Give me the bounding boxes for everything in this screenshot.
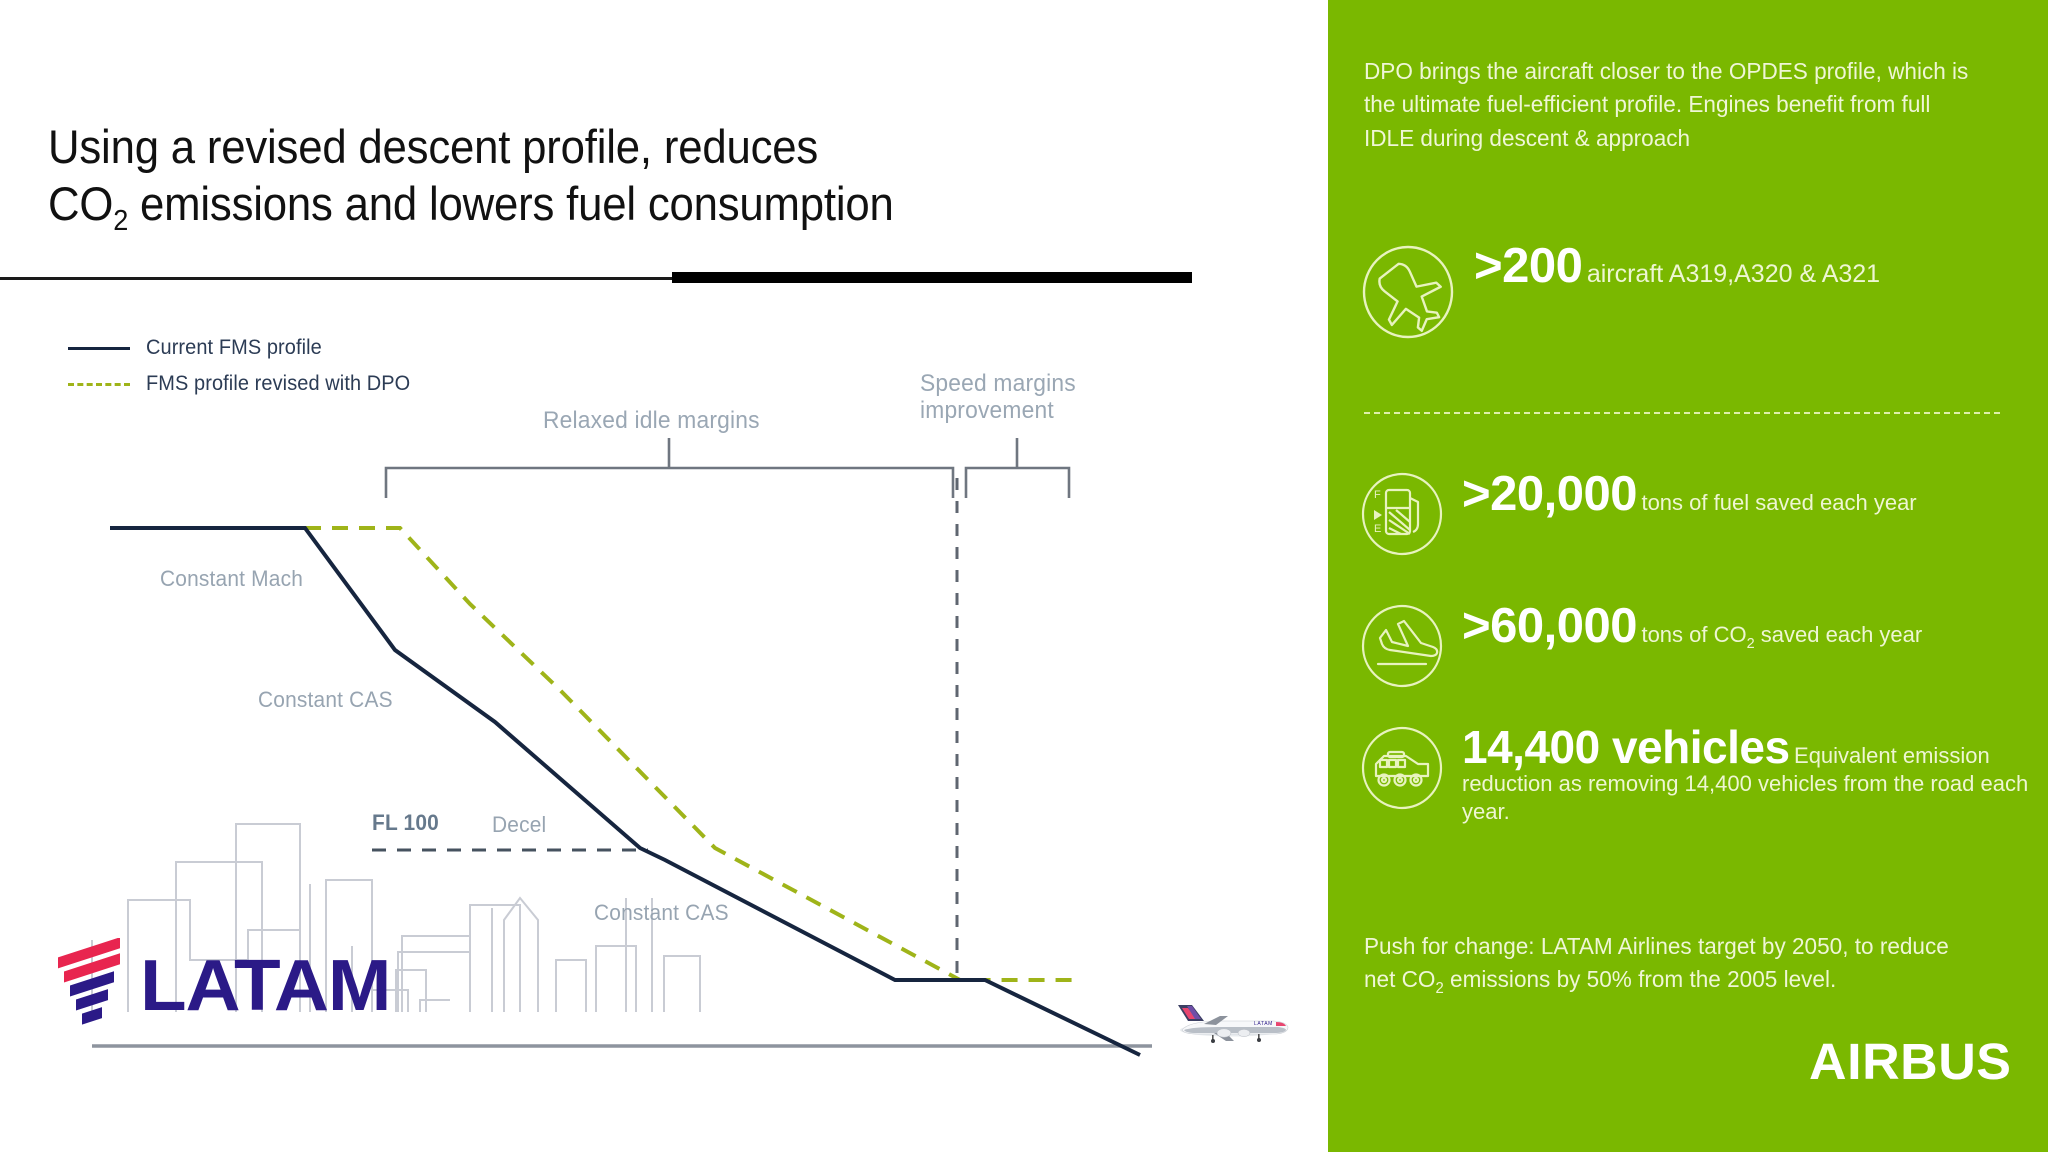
- chart-label-constant-mach: Constant Mach: [160, 566, 303, 592]
- outro-paragraph: Push for change: LATAM Airlines target b…: [1364, 930, 1969, 997]
- stat-aircraft-value: >200: [1474, 239, 1582, 293]
- stat-fuel: F E >20,000 tons of fuel saved each year: [1356, 468, 1917, 565]
- outro-post: emissions by 50% from the 2005 level.: [1444, 966, 1836, 992]
- svg-text:LATAM: LATAM: [1254, 1021, 1273, 1027]
- stat-vehicles: 14,400 vehicles Equivalent emission redu…: [1356, 722, 2048, 826]
- green-info-panel: DPO brings the aircraft closer to the OP…: [1328, 0, 2048, 1152]
- bracket-speed-margins: [966, 438, 1069, 498]
- stat-aircraft-sub: aircraft A319,A320 & A321: [1587, 260, 1880, 288]
- svg-text:E: E: [1374, 523, 1381, 535]
- stat-vehicles-value: 14,400 vehicles: [1462, 721, 1790, 773]
- latam-mark-icon: [50, 938, 130, 1034]
- aircraft-icon: [1356, 240, 1460, 349]
- stat-co2-value: >60,000: [1462, 599, 1637, 653]
- fuel-gauge-icon: F E: [1356, 468, 1448, 565]
- stat-co2-sub: tons of CO2 saved each year: [1641, 622, 1922, 647]
- latam-logo: LATAM: [50, 938, 376, 1034]
- latam-aircraft-photo: LATAM: [1158, 1000, 1294, 1046]
- bracket-relaxed-idle-margins: [386, 438, 953, 498]
- svg-text:F: F: [1374, 489, 1381, 501]
- chart-label-constant-cas-lower: Constant CAS: [594, 900, 729, 926]
- latam-wordmark: LATAM: [140, 950, 390, 1022]
- stat-co2-sub-pre: tons of CO: [1641, 622, 1746, 647]
- stat-vehicles-text: 14,400 vehicles Equivalent emission redu…: [1462, 722, 2048, 826]
- chart-panel: Using a revised descent profile, reduces…: [0, 0, 1328, 1152]
- stats-divider: [1364, 412, 2000, 414]
- stat-fuel-sub-text: tons of fuel saved each year: [1641, 490, 1916, 515]
- chart-label-fl100: FL 100: [372, 810, 439, 836]
- stat-co2: >60,000 tons of CO2 saved each year: [1356, 600, 1922, 697]
- chart-label-decel: Decel: [492, 812, 546, 838]
- stat-co2-sub-post: saved each year: [1755, 622, 1923, 647]
- stat-fuel-value: >20,000: [1462, 467, 1637, 521]
- infographic-root: Using a revised descent profile, reduces…: [0, 0, 2048, 1152]
- outro-co2-subscript: 2: [1435, 980, 1443, 997]
- intro-paragraph: DPO brings the aircraft closer to the OP…: [1364, 55, 1969, 155]
- stat-aircraft-text: >200 aircraft A319,A320 & A321: [1474, 240, 1880, 291]
- stat-fuel-text: >20,000 tons of fuel saved each year: [1462, 468, 1917, 519]
- landing-plane-icon: [1356, 600, 1448, 697]
- stat-fuel-sub: tons of fuel saved each year: [1641, 490, 1916, 515]
- stat-co2-text: >60,000 tons of CO2 saved each year: [1462, 600, 1922, 651]
- stat-aircraft: >200 aircraft A319,A320 & A321: [1356, 240, 1880, 349]
- airbus-logo: AIRBUS: [1810, 1032, 2012, 1091]
- chart-label-constant-cas-upper: Constant CAS: [258, 687, 393, 713]
- stat-aircraft-sub-text: aircraft A319,A320 & A321: [1587, 260, 1880, 288]
- vehicle-icon: [1356, 722, 1448, 819]
- stat-co2-subscript: 2: [1747, 636, 1755, 652]
